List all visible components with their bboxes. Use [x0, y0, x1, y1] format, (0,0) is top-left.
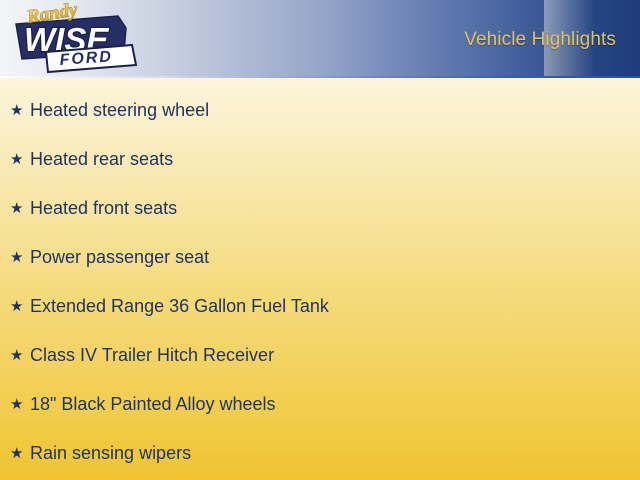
- list-item: ★ 18" Black Painted Alloy wheels: [0, 380, 640, 429]
- list-item: ★ Extended Range 36 Gallon Fuel Tank: [0, 282, 640, 331]
- list-item-label: Heated front seats: [30, 198, 177, 218]
- vehicle-highlights-list: ★ Heated steering wheel ★ Heated rear se…: [0, 86, 640, 478]
- list-item-label: Class IV Trailer Hitch Receiver: [30, 345, 274, 365]
- list-item: ★ Rain sensing wipers: [0, 429, 640, 478]
- list-item: ★ Heated rear seats: [0, 135, 640, 184]
- list-item: ★ Class IV Trailer Hitch Receiver: [0, 331, 640, 380]
- list-item-label: Heated rear seats: [30, 149, 173, 169]
- list-item: ★ Power passenger seat: [0, 233, 640, 282]
- list-item-label: 18" Black Painted Alloy wheels: [30, 394, 276, 414]
- list-item-label: Extended Range 36 Gallon Fuel Tank: [30, 296, 329, 316]
- star-bullet-icon: ★: [10, 135, 23, 184]
- header-bar: WISE Randy FORD Vehicle Highlights: [0, 0, 640, 78]
- star-bullet-icon: ★: [10, 331, 23, 380]
- list-item-label: Heated steering wheel: [30, 100, 209, 120]
- header-divider: [0, 76, 640, 78]
- star-bullet-icon: ★: [10, 429, 23, 478]
- star-bullet-icon: ★: [10, 380, 23, 429]
- page-title: Vehicle Highlights: [464, 29, 616, 51]
- dealer-logo: WISE Randy FORD: [6, 2, 140, 76]
- star-bullet-icon: ★: [10, 86, 23, 135]
- star-bullet-icon: ★: [10, 184, 23, 233]
- list-item-label: Rain sensing wipers: [30, 443, 191, 463]
- vehicle-highlights-slide: WISE Randy FORD Vehicle Highlights ★ Hea…: [0, 0, 640, 480]
- list-item: ★ Heated steering wheel: [0, 86, 640, 135]
- star-bullet-icon: ★: [10, 233, 23, 282]
- list-item: ★ Heated front seats: [0, 184, 640, 233]
- list-item-label: Power passenger seat: [30, 247, 209, 267]
- star-bullet-icon: ★: [10, 282, 23, 331]
